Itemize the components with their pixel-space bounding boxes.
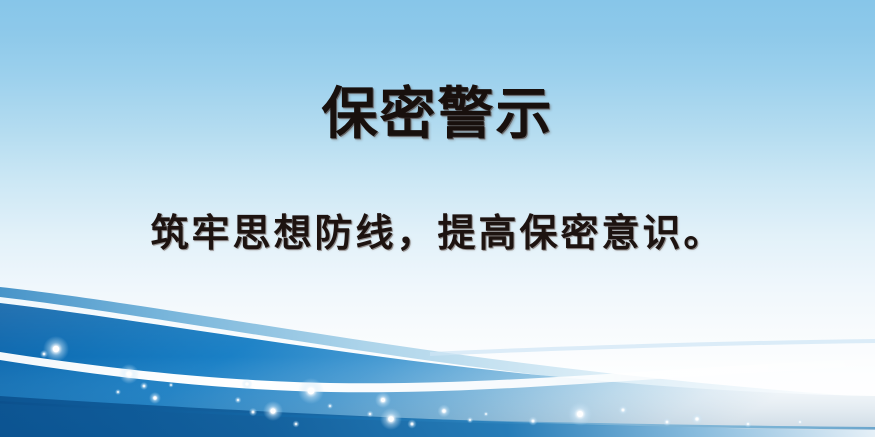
page-subtitle: 筑牢思想防线，提高保密意识。 <box>0 209 875 257</box>
page-title: 保密警示 <box>0 84 875 146</box>
text-content-stack: 保密警示 筑牢思想防线，提高保密意识。 <box>0 0 875 437</box>
poster-canvas: 保密警示 筑牢思想防线，提高保密意识。 <box>0 0 875 437</box>
